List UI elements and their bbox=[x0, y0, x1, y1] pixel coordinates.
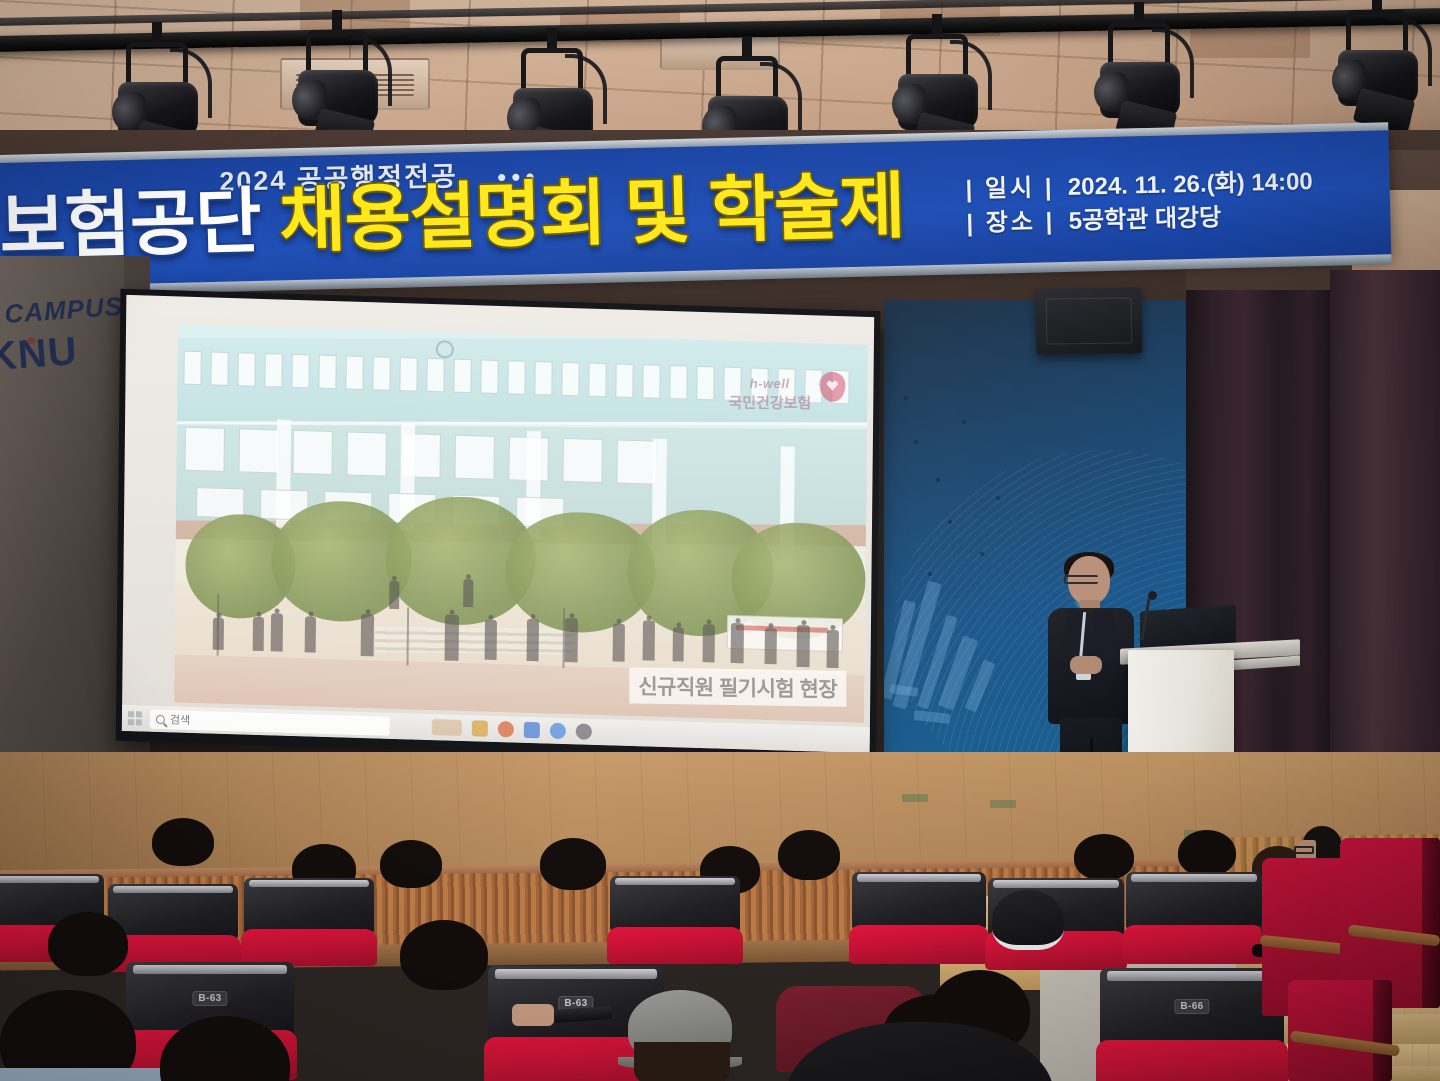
floor-vent bbox=[990, 800, 1016, 808]
audience-head bbox=[1074, 834, 1134, 880]
seat-rail bbox=[993, 880, 1118, 887]
taskbar-app-icons[interactable] bbox=[432, 719, 592, 740]
person-silhouette bbox=[305, 616, 316, 652]
person-silhouette bbox=[271, 613, 283, 651]
audience-seating: B-63 B-63 B-66 bbox=[0, 816, 1440, 1081]
building-clock bbox=[436, 340, 454, 359]
projected-slide: h-well 국민건강보험 bbox=[174, 324, 868, 722]
banner-place-value: 5공학관 대강당 bbox=[1068, 204, 1221, 235]
powerpoint-icon[interactable] bbox=[524, 722, 540, 738]
person-silhouette bbox=[527, 619, 539, 661]
event-banner: 2024 공공행정전공 ••• 강보험공단 채용설명회 및 학술제 | 일시 |… bbox=[0, 129, 1391, 288]
hwell-korean-text: 국민건강보험 bbox=[729, 392, 812, 413]
seat-back bbox=[1126, 872, 1262, 929]
windows-start-icon[interactable] bbox=[128, 711, 142, 725]
seat-back bbox=[852, 872, 986, 929]
audience-head bbox=[400, 920, 488, 990]
banner-place-label: | 장소 | bbox=[966, 208, 1056, 237]
audience-head bbox=[778, 830, 840, 880]
glasses-icon bbox=[1064, 575, 1098, 584]
audience-hand bbox=[512, 1004, 554, 1026]
banner-date-label: | 일시 | bbox=[965, 174, 1055, 203]
seat-rail bbox=[249, 880, 369, 887]
seat-back bbox=[108, 884, 238, 939]
search-placeholder: 검색 bbox=[170, 711, 190, 728]
person-silhouette bbox=[253, 617, 264, 651]
ceiling-speaker bbox=[1036, 287, 1143, 354]
chrome-icon[interactable] bbox=[550, 723, 566, 739]
seat-rail bbox=[1107, 971, 1276, 981]
person-silhouette bbox=[613, 623, 625, 661]
person-silhouette bbox=[213, 618, 224, 650]
seat-cushion bbox=[607, 927, 742, 964]
person-silhouette bbox=[485, 620, 497, 660]
seat-cushion bbox=[1123, 925, 1264, 964]
seat-rail bbox=[0, 876, 99, 883]
search-icon bbox=[156, 714, 165, 723]
theater-seat[interactable] bbox=[852, 872, 986, 964]
audience-head bbox=[380, 840, 442, 888]
person-silhouette bbox=[565, 618, 578, 662]
seat-cushion bbox=[241, 929, 376, 966]
seat-rail bbox=[113, 886, 233, 893]
audience-hair bbox=[634, 1042, 730, 1081]
stage-curtain-right bbox=[1330, 270, 1440, 815]
audience-beanie-hat bbox=[992, 890, 1064, 950]
seat-rail bbox=[857, 874, 980, 881]
theater-seat[interactable] bbox=[244, 878, 374, 966]
audience-head bbox=[540, 838, 606, 890]
seat-dark-edge bbox=[1373, 980, 1392, 1081]
knu-sign-bold: KNU bbox=[0, 329, 79, 379]
theater-seat[interactable] bbox=[1126, 872, 1262, 964]
hwell-logo: h-well 국민건강보험 bbox=[728, 376, 811, 413]
seat-back bbox=[244, 878, 374, 933]
seat-back: B-66 bbox=[1100, 968, 1284, 1045]
person-silhouette bbox=[361, 614, 374, 656]
person-silhouette bbox=[643, 620, 655, 660]
building-entrance-steps bbox=[375, 626, 575, 654]
person-silhouette bbox=[731, 623, 744, 663]
audience-head bbox=[1178, 830, 1236, 876]
banner-title-yellow: 채용설명회 및 학술제 bbox=[278, 167, 905, 262]
seat-number-plate: B-66 bbox=[1174, 999, 1209, 1014]
person-silhouette bbox=[797, 625, 810, 667]
seat-dark-edge bbox=[1422, 838, 1440, 1008]
person-silhouette bbox=[389, 581, 399, 609]
theater-seat[interactable]: B-66 bbox=[1100, 968, 1284, 1081]
person-silhouette bbox=[463, 579, 473, 607]
projection-screen[interactable]: h-well 국민건강보험 bbox=[122, 295, 874, 753]
microphone-icon bbox=[1148, 591, 1157, 600]
person-silhouette bbox=[673, 627, 684, 661]
browser-icon[interactable] bbox=[498, 721, 514, 737]
person-silhouette bbox=[765, 628, 777, 664]
banner-main-title: 강보험공단 채용설명회 및 학술제 bbox=[0, 171, 905, 266]
seat-back bbox=[610, 876, 740, 931]
file-explorer-icon[interactable] bbox=[472, 720, 488, 736]
theater-seat[interactable] bbox=[108, 884, 238, 972]
parked-truck bbox=[727, 615, 843, 652]
seat-rail bbox=[133, 965, 288, 975]
person-silhouette bbox=[703, 624, 715, 662]
audience-head bbox=[48, 912, 128, 976]
seat-number-plate: B-63 bbox=[192, 991, 227, 1006]
search-input[interactable]: 검색 bbox=[150, 709, 390, 735]
seat-rail bbox=[615, 878, 735, 885]
slide-caption: 신규직원 필기시험 현장 bbox=[629, 667, 846, 706]
seat-rail bbox=[495, 969, 657, 979]
seat-cushion bbox=[1096, 1040, 1287, 1081]
banner-details: | 일시 | 2024. 11. 26.(화) 14:00 | 장소 | 5공학… bbox=[965, 165, 1314, 241]
hwell-brand-text: h-well bbox=[728, 376, 811, 391]
seat-rail bbox=[1131, 874, 1256, 881]
audience-head bbox=[152, 818, 214, 866]
person-silhouette bbox=[445, 614, 459, 660]
floor-vent bbox=[902, 794, 928, 802]
media-player-icon[interactable] bbox=[576, 723, 592, 739]
theater-seat[interactable] bbox=[610, 876, 740, 964]
banner-place-row: | 장소 | 5공학관 대강당 bbox=[966, 199, 1314, 241]
auditorium-photo: 2024 공공행정전공 ••• 강보험공단 채용설명회 및 학술제 | 일시 |… bbox=[0, 0, 1440, 1081]
weather-widget[interactable] bbox=[432, 719, 462, 736]
person-silhouette bbox=[827, 630, 839, 668]
seat-cushion bbox=[849, 925, 988, 964]
glasses-icon bbox=[1294, 846, 1314, 854]
banner-date-value: 2024. 11. 26.(화) 14:00 bbox=[1068, 168, 1313, 201]
theater-seat-side[interactable] bbox=[1288, 980, 1392, 1081]
presenter-hands bbox=[1070, 656, 1102, 674]
